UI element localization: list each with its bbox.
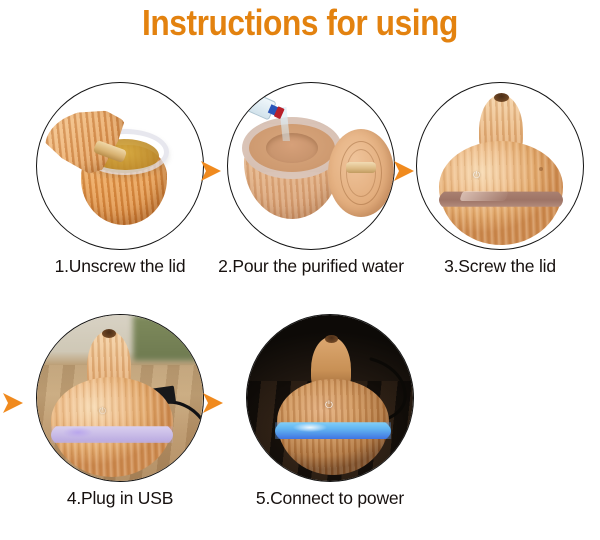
arrow-step4-to-step5 — [200, 390, 226, 416]
step-3-photo-circle: ⏻ — [416, 82, 584, 250]
step-1-image — [36, 82, 204, 250]
step-5-caption: 5.Connect to power — [230, 488, 430, 509]
step-4-photo-circle: ⏻ — [36, 314, 204, 482]
mist-nozzle — [102, 329, 116, 338]
water-bottle-icon — [238, 87, 289, 126]
led-glow — [63, 427, 93, 438]
power-button-icon: ⏻ — [99, 407, 106, 416]
step-3-caption: 3.Screw the lid — [400, 256, 600, 277]
band-highlight — [459, 191, 508, 201]
step-1: 1.Unscrew the lid — [20, 82, 220, 277]
step-3-image: ⏻ — [416, 82, 584, 250]
mist-nozzle — [325, 335, 338, 343]
step-5: ⏻ 5.Connect to power — [230, 314, 430, 509]
step-1-caption: 1.Unscrew the lid — [20, 256, 220, 277]
background-plant — [133, 315, 204, 361]
mist-nozzle — [494, 93, 509, 102]
power-button-icon: ⏻ — [325, 401, 333, 411]
arrow-step3-to-step4 — [0, 390, 26, 416]
step-4-caption: 4.Plug in USB — [20, 488, 220, 509]
instruction-steps: 1.Unscrew the lid — [0, 0, 600, 540]
lid-inner-ring-2 — [346, 149, 376, 197]
arrow-step1-to-step2 — [198, 158, 224, 184]
step-3: ⏻ 3.Screw the lid — [400, 82, 600, 277]
step-1-photo-circle — [36, 82, 204, 250]
lid-mist-stem — [346, 162, 376, 173]
step-2-caption: 2.Pour the purified water — [211, 256, 411, 277]
power-button-icon: ⏻ — [473, 171, 480, 180]
step-5-image: ⏻ — [246, 314, 414, 482]
tank-opening — [266, 133, 318, 163]
step-2: 2.Pour the purified water — [211, 82, 411, 277]
led-highlight — [293, 423, 327, 432]
step-2-photo-circle — [227, 82, 395, 250]
step-2-image — [227, 82, 395, 250]
step-4: ⏻ 4.Plug in USB — [20, 314, 220, 509]
step-4-image: ⏻ — [36, 314, 204, 482]
arrow-step2-to-step3 — [391, 158, 417, 184]
sensor-dot — [539, 167, 543, 171]
step-5-photo-circle: ⏻ — [246, 314, 414, 482]
